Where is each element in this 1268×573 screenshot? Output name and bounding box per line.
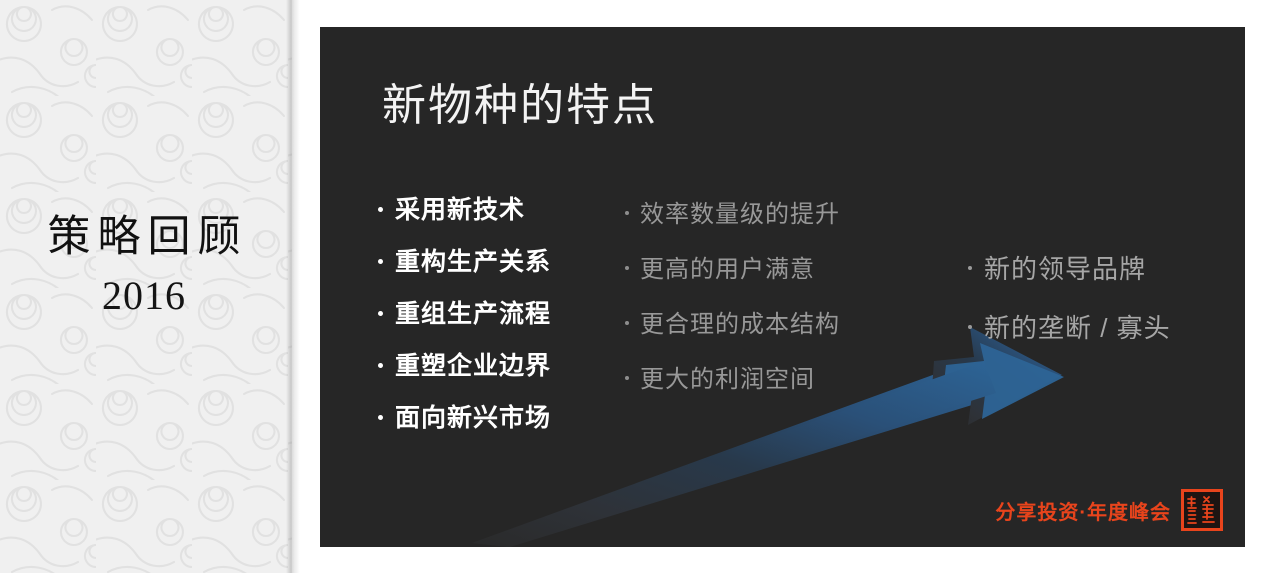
section-title: 策略回顾 [0,212,288,264]
bullet-dot-icon [378,415,383,420]
bullet-item: 新的领导品牌 [968,249,1171,308]
bullet-item: 新的垄断 / 寡头 [968,308,1171,367]
brand-name: 分享投资·年度峰会 [995,496,1171,525]
bullet-item: 更高的用户满意 [625,249,840,304]
bullet-label: 重塑企业边界 [395,346,551,382]
bullet-label: 效率数量级的提升 [640,194,840,229]
bullet-dot-icon [625,266,629,270]
bullet-dot-icon [968,266,972,270]
bullet-label: 更合理的成本结构 [640,304,840,339]
bullet-item: 效率数量级的提升 [625,194,840,249]
bullet-label: 重组生产流程 [395,294,551,330]
bullet-dot-icon [625,376,629,380]
bullet-label: 新的垄断 / 寡头 [984,308,1171,345]
bullet-item: 更合理的成本结构 [625,304,840,359]
bullet-dot-icon [968,325,972,329]
brand-seal-stamp-icon [1181,489,1223,531]
bullet-dot-icon [378,311,383,316]
bullet-dot-icon [378,259,383,264]
bullet-item: 面向新兴市场 [378,398,551,450]
section-heading-block: 策略回顾 2016 [0,212,288,322]
bullet-column-secondary: 效率数量级的提升 更高的用户满意 更合理的成本结构 更大的利润空间 [625,194,840,414]
bullet-column-primary: 采用新技术 重构生产关系 重组生产流程 重塑企业边界 面向新兴市场 [378,190,551,450]
bullet-label: 更高的用户满意 [640,249,815,284]
section-year: 2016 [0,270,288,322]
bullet-label: 更大的利润空间 [640,359,815,394]
bullet-label: 采用新技术 [395,190,525,226]
bullet-column-tertiary: 新的领导品牌 新的垄断 / 寡头 [968,249,1171,367]
bullet-label: 新的领导品牌 [984,249,1146,286]
bullet-dot-icon [378,363,383,368]
bullet-label: 重构生产关系 [395,242,551,278]
branding-footer: 分享投资·年度峰会 [995,489,1223,531]
bullet-label: 面向新兴市场 [395,398,551,434]
presentation-slide: 新物种的特点 采用新技术 重构生产关系 重组生产流程 重塑企业边界 面向新兴市场 [320,27,1245,547]
bullet-item: 重组生产流程 [378,294,551,346]
slide-page: 策略回顾 2016 [0,0,1268,573]
slide-title: 新物种的特点 [382,77,658,135]
bullet-item: 重构生产关系 [378,242,551,294]
bullet-item: 重塑企业边界 [378,346,551,398]
bullet-item: 更大的利润空间 [625,359,840,414]
bullet-dot-icon [378,207,383,212]
section-divider-panel: 策略回顾 2016 [0,0,292,573]
bullet-item: 采用新技术 [378,190,551,242]
bullet-dot-icon [625,211,629,215]
bullet-dot-icon [625,321,629,325]
